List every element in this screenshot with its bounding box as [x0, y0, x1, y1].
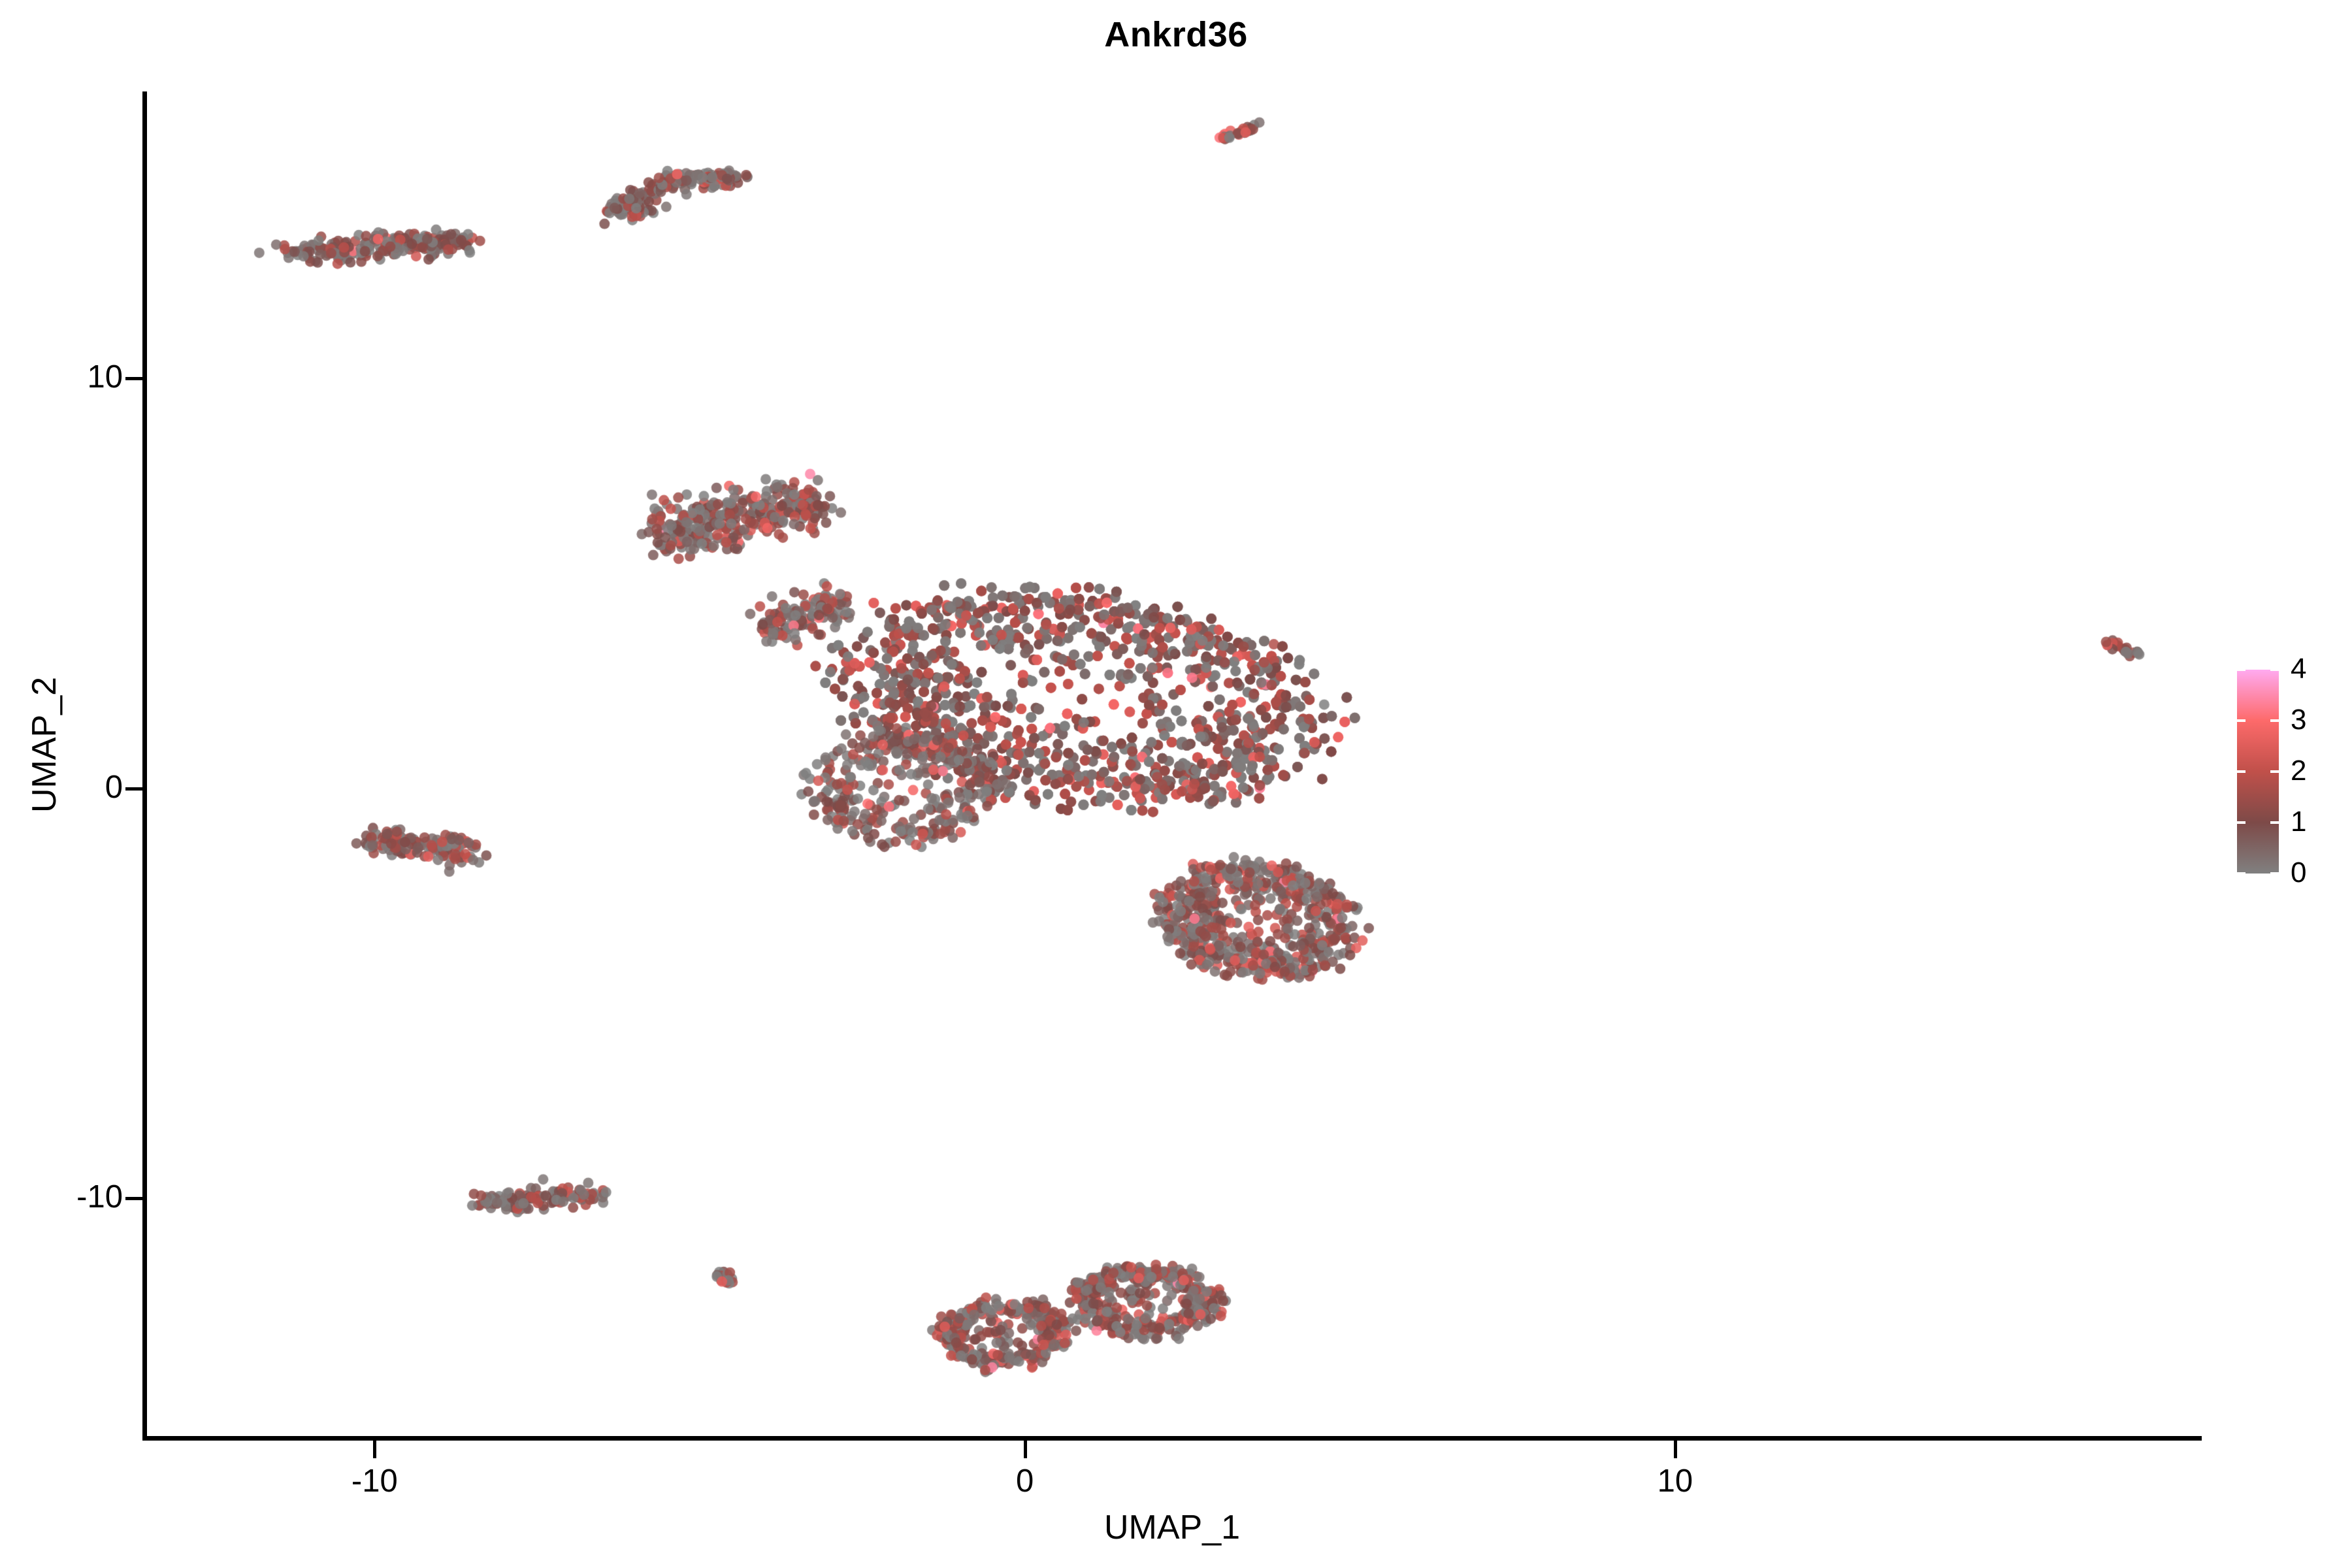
x-tick-mark: [1024, 1441, 1027, 1458]
y-tick-label: 0: [105, 772, 123, 804]
legend-tick-mark: [2270, 872, 2279, 875]
legend-tick-mark: [2237, 719, 2246, 722]
x-axis-title: UMAP_1: [142, 1508, 2202, 1547]
legend-tick-mark: [2237, 668, 2246, 671]
y-axis-title: UMAP_2: [25, 451, 64, 1039]
legend-label: 2: [2291, 757, 2306, 785]
y-tick-mark: [125, 787, 143, 791]
scatter-points-layer: [147, 91, 2202, 1436]
y-tick-mark: [125, 377, 143, 380]
x-tick-label: 10: [1658, 1465, 1693, 1497]
x-tick-mark: [373, 1441, 376, 1458]
legend-label: 0: [2291, 858, 2306, 887]
y-axis-line: [142, 91, 147, 1439]
legend-tick-mark: [2270, 668, 2279, 671]
legend-label: 4: [2291, 655, 2306, 683]
legend-tick-mark: [2237, 821, 2246, 824]
page-title: Ankrd36: [0, 14, 2352, 55]
legend-tick-mark: [2237, 770, 2246, 773]
x-tick-label: 0: [1016, 1465, 1034, 1497]
y-tick-mark: [125, 1197, 143, 1200]
legend-label: 1: [2291, 808, 2306, 836]
umap-feature-plot: Ankrd36 100-10-10010 UMAP_1 UMAP_2 43210: [0, 0, 2352, 1568]
legend-label: 3: [2291, 706, 2306, 734]
color-legend: 43210: [2237, 666, 2348, 882]
x-tick-label: -10: [351, 1465, 398, 1497]
x-axis-line: [142, 1436, 2202, 1441]
y-tick-label: 10: [87, 361, 123, 393]
legend-tick-mark: [2270, 821, 2279, 824]
plot-panel: [147, 91, 2202, 1436]
y-tick-label: -10: [76, 1181, 123, 1213]
legend-tick-mark: [2270, 719, 2279, 722]
legend-tick-mark: [2237, 872, 2246, 875]
x-tick-mark: [1674, 1441, 1677, 1458]
legend-tick-mark: [2270, 770, 2279, 773]
